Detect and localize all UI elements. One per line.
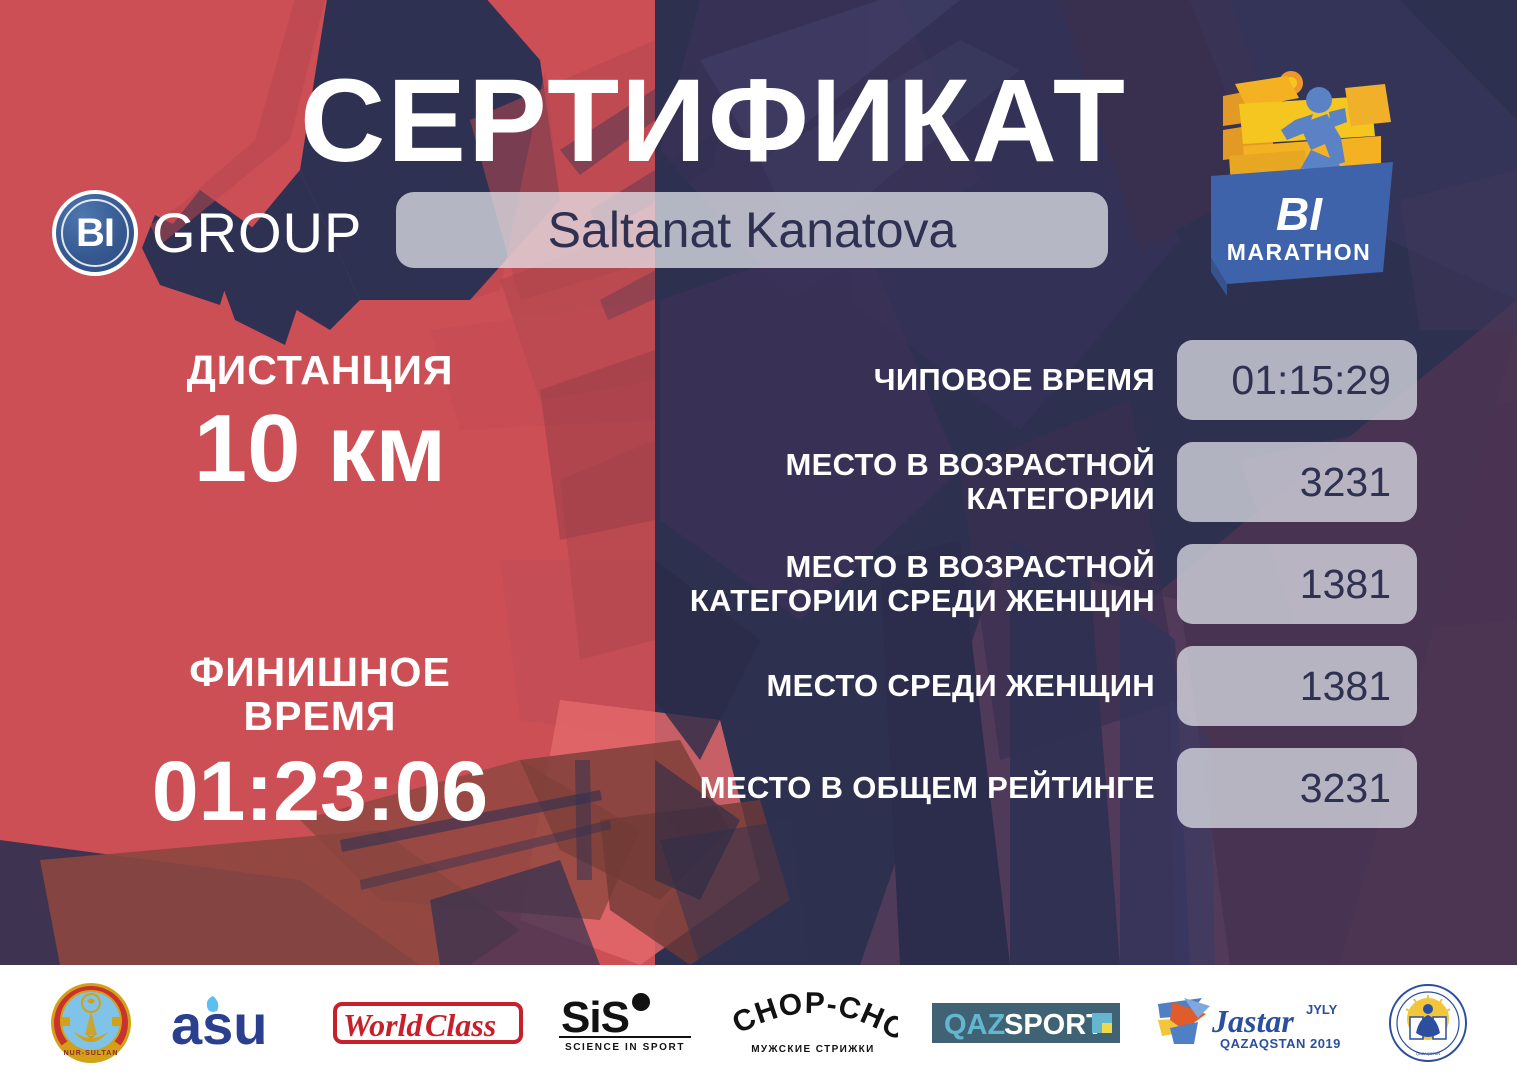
svg-text:SiS: SiS [561,993,629,1042]
participant-name-value: Saltanat Kanatova [548,205,957,255]
distance-value: 10 км [70,398,570,500]
bi-group-wordmark: GROUP [152,205,362,261]
stat-row: МЕСТО В ВОЗРАСТНОЙ КАТЕГОРИИ СРЕДИ ЖЕНЩИ… [657,544,1417,624]
svg-text:asu: asu [171,993,268,1054]
stat-value-pill: 3231 [1177,748,1417,828]
stat-row: МЕСТО В ВОЗРАСТНОЙ КАТЕГОРИИ 3231 [657,442,1417,522]
svg-text:World: World [343,1007,423,1043]
finish-time-label-line2: ВРЕМЯ [70,694,570,738]
stat-row: ЧИПОВОЕ ВРЕМЯ 01:15:29 [657,340,1417,420]
svg-text:CHOP-CHOP: CHOP-CHOP [728,992,898,1048]
sponsor-qazsport-logo: QAZ SPORT [932,980,1120,1066]
stat-value: 1381 [1300,564,1391,605]
stat-value-pill: 1381 [1177,646,1417,726]
distance-label: ДИСТАНЦИЯ [70,348,570,392]
stat-value: 3231 [1300,768,1391,809]
stat-value: 01:15:29 [1231,360,1391,401]
stat-label: МЕСТО В ВОЗРАСТНОЙ КАТЕГОРИИ [657,448,1177,516]
stat-row: МЕСТО СРЕДИ ЖЕНЩИН 1381 [657,646,1417,726]
stat-row: МЕСТО В ОБЩЕМ РЕЙТИНГЕ 3231 [657,748,1417,828]
sponsor-bar: NUR-SULTAN asu World Class SiS SCI [0,965,1517,1080]
bi-marathon-logo: BI MARATHON [1195,58,1425,308]
finish-time-label-line1: ФИНИШНОЕ [70,650,570,694]
stat-value: 1381 [1300,666,1391,707]
stat-value-pill: 1381 [1177,544,1417,624]
certificate-canvas: BI GROUP СЕРТИФИКАТ Saltanat Kanatova [0,0,1517,1080]
distance-block: ДИСТАНЦИЯ 10 км [70,348,570,500]
svg-text:QAZAQSTAN 2019: QAZAQSTAN 2019 [1220,1036,1341,1051]
bi-badge-label: BI [76,213,114,253]
sponsor-ministry-emblem: QAZAQSTAN [1388,980,1468,1066]
stat-label: МЕСТО В ОБЩЕМ РЕЙТИНГЕ [657,771,1177,805]
stat-value: 3231 [1300,462,1391,503]
sponsor-world-class-logo: World Class [333,980,523,1066]
bi-group-logo: BI GROUP [52,190,362,276]
sponsor-jastar-jyly-logo: Jastar JYLY QAZAQSTAN 2019 [1154,980,1354,1066]
bi-badge-icon: BI [52,190,138,276]
finish-time-block: ФИНИШНОЕ ВРЕМЯ 01:23:06 [70,650,570,836]
finish-time-value: 01:23:06 [70,747,570,836]
stat-label: МЕСТО В ВОЗРАСТНОЙ КАТЕГОРИИ СРЕДИ ЖЕНЩИ… [657,550,1177,618]
svg-text:JYLY: JYLY [1306,1002,1338,1017]
svg-text:SCIENCE IN SPORT: SCIENCE IN SPORT [565,1042,685,1053]
svg-text:QAZAQSTAN: QAZAQSTAN [1416,1051,1440,1056]
sponsor-chop-chop-logo: CHOP-CHOP МУЖСКИЕ СТРИЖКИ [728,980,898,1066]
svg-text:MARATHON: MARATHON [1227,239,1371,265]
svg-text:МУЖСКИЕ СТРИЖКИ: МУЖСКИЕ СТРИЖКИ [751,1044,875,1054]
stat-label: ЧИПОВОЕ ВРЕМЯ [657,363,1177,397]
sponsor-asu-logo: asu [167,980,299,1066]
sponsor-nur-sultan-emblem: NUR-SULTAN [49,980,133,1066]
svg-text:SPORT: SPORT [1004,1009,1104,1041]
svg-text:Class: Class [425,1007,496,1043]
stat-value-pill: 3231 [1177,442,1417,522]
sponsor-sis-logo: SiS SCIENCE IN SPORT [557,980,693,1066]
svg-text:Jastar: Jastar [1211,1003,1294,1039]
participant-name-field: Saltanat Kanatova [396,192,1108,268]
certificate-header: BI GROUP СЕРТИФИКАТ Saltanat Kanatova [0,0,1517,300]
stat-label: МЕСТО СРЕДИ ЖЕНЩИН [657,669,1177,703]
svg-text:BI: BI [1276,188,1323,240]
results-stats-list: ЧИПОВОЕ ВРЕМЯ 01:15:29 МЕСТО В ВОЗРАСТНО… [657,340,1417,850]
svg-text:NUR-SULTAN: NUR-SULTAN [64,1050,119,1057]
stat-value-pill: 01:15:29 [1177,340,1417,420]
svg-text:QAZ: QAZ [944,1009,1005,1041]
